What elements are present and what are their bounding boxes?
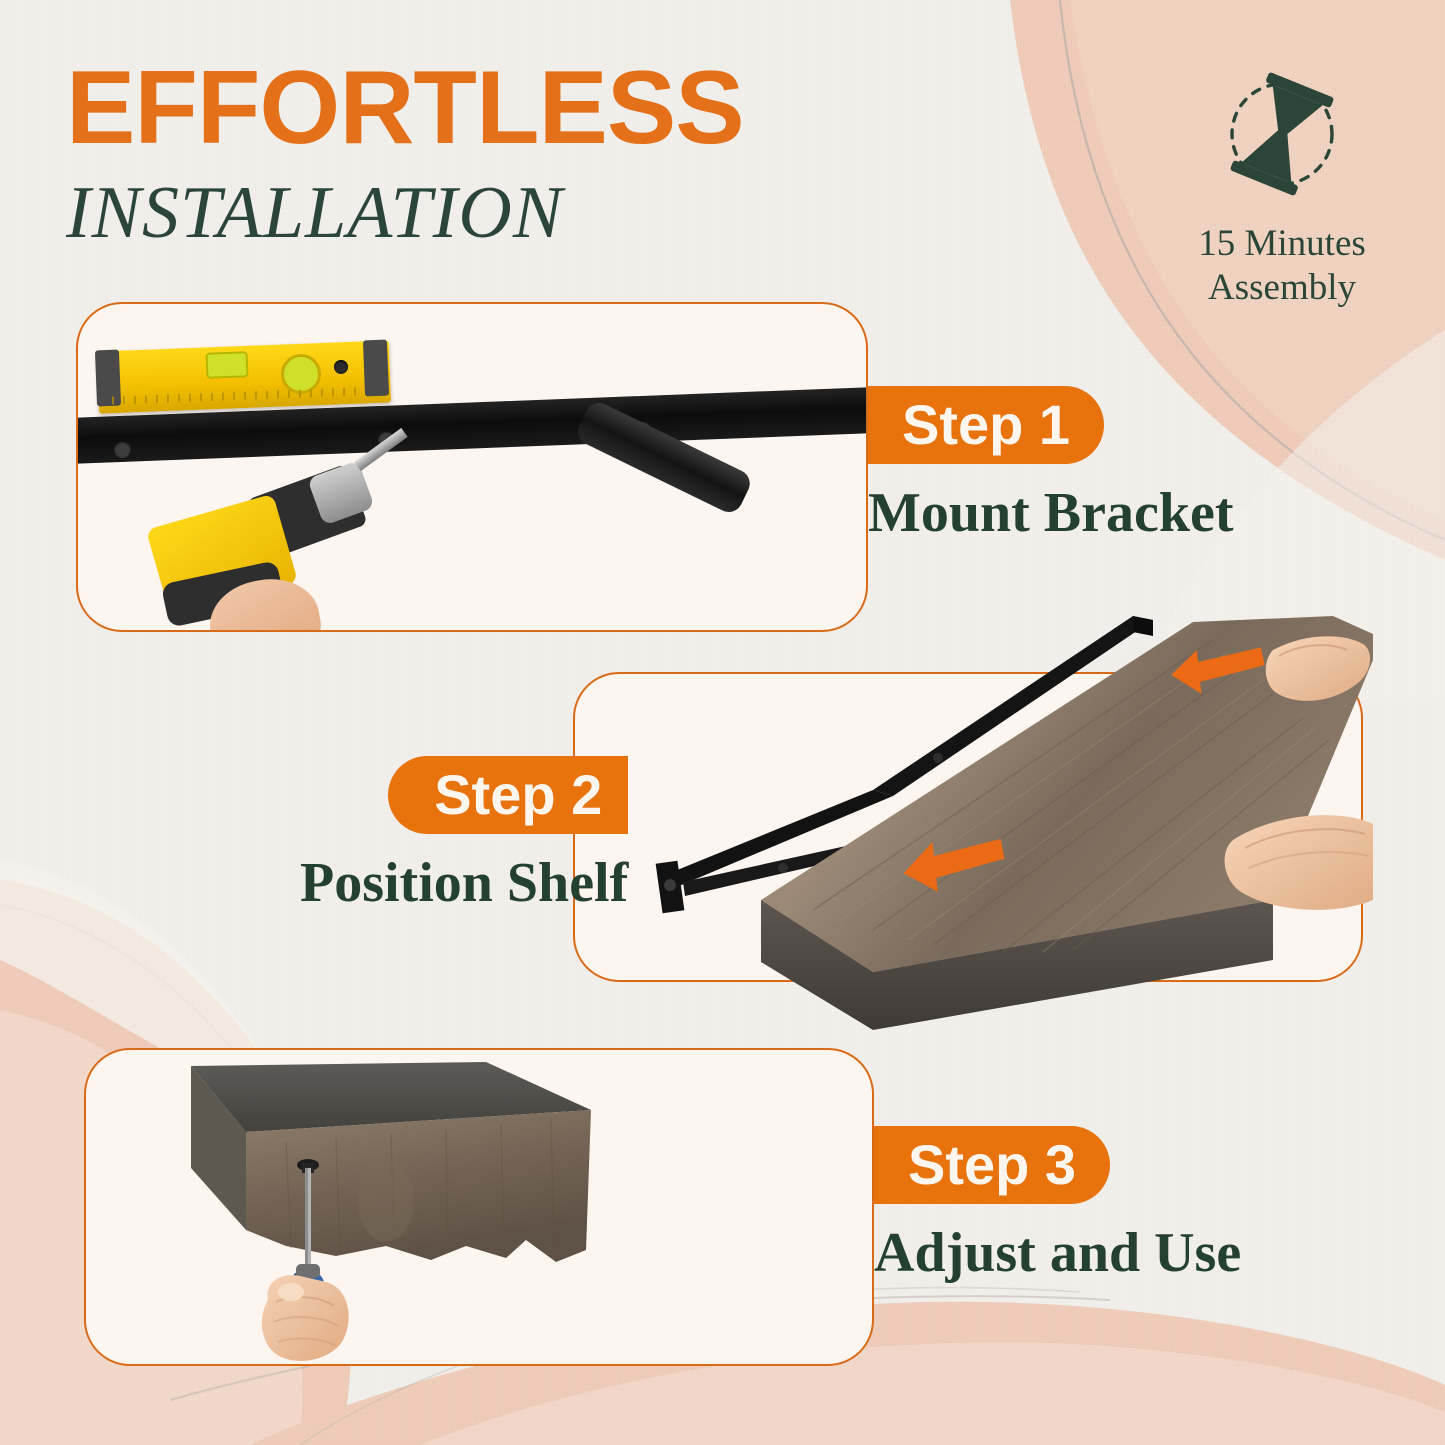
step-2-text-group: Step 2 Position Shelf <box>300 756 628 915</box>
page-subtitle: INSTALLATION <box>66 176 744 250</box>
step-2-label: Position Shelf <box>300 852 628 915</box>
step-1-label: Mount Bracket <box>868 482 1234 545</box>
step-1-badge[interactable]: Step 1 <box>868 386 1104 464</box>
step-3-badge[interactable]: Step 3 <box>874 1126 1110 1204</box>
rail-hole <box>114 441 131 458</box>
step-2-illustration <box>573 600 1373 1030</box>
step-1-illustration <box>78 304 866 630</box>
assembly-time-badge: 15 Minutes Assembly <box>1182 62 1382 309</box>
spirit-level-hole <box>334 360 348 374</box>
step-1-text-group: Step 1 Mount Bracket <box>868 386 1234 545</box>
step-3-image-card <box>84 1048 874 1366</box>
page-title: EFFORTLESS <box>66 56 744 160</box>
step-3-text-group: Step 3 Adjust and Use <box>874 1126 1241 1285</box>
assembly-time-line1: 15 Minutes <box>1182 222 1382 266</box>
hourglass-icon <box>1207 62 1357 212</box>
step-3-label: Adjust and Use <box>874 1222 1241 1285</box>
infographic-canvas: EFFORTLESS INSTALLATION 15 Minutes Assem… <box>0 0 1445 1445</box>
step-2-badge[interactable]: Step 2 <box>388 756 628 834</box>
hand-holding-screwdriver <box>262 1275 349 1361</box>
assembly-time-text: 15 Minutes Assembly <box>1182 222 1382 309</box>
header-title-group: EFFORTLESS INSTALLATION <box>66 56 744 250</box>
step-1-image-card <box>76 302 868 632</box>
spirit-level-cap <box>363 340 389 397</box>
spirit-level-vial <box>206 351 249 379</box>
wood-shelf-underside <box>191 1062 591 1262</box>
step-3-illustration <box>86 1050 872 1364</box>
assembly-time-line2: Assembly <box>1182 266 1382 310</box>
